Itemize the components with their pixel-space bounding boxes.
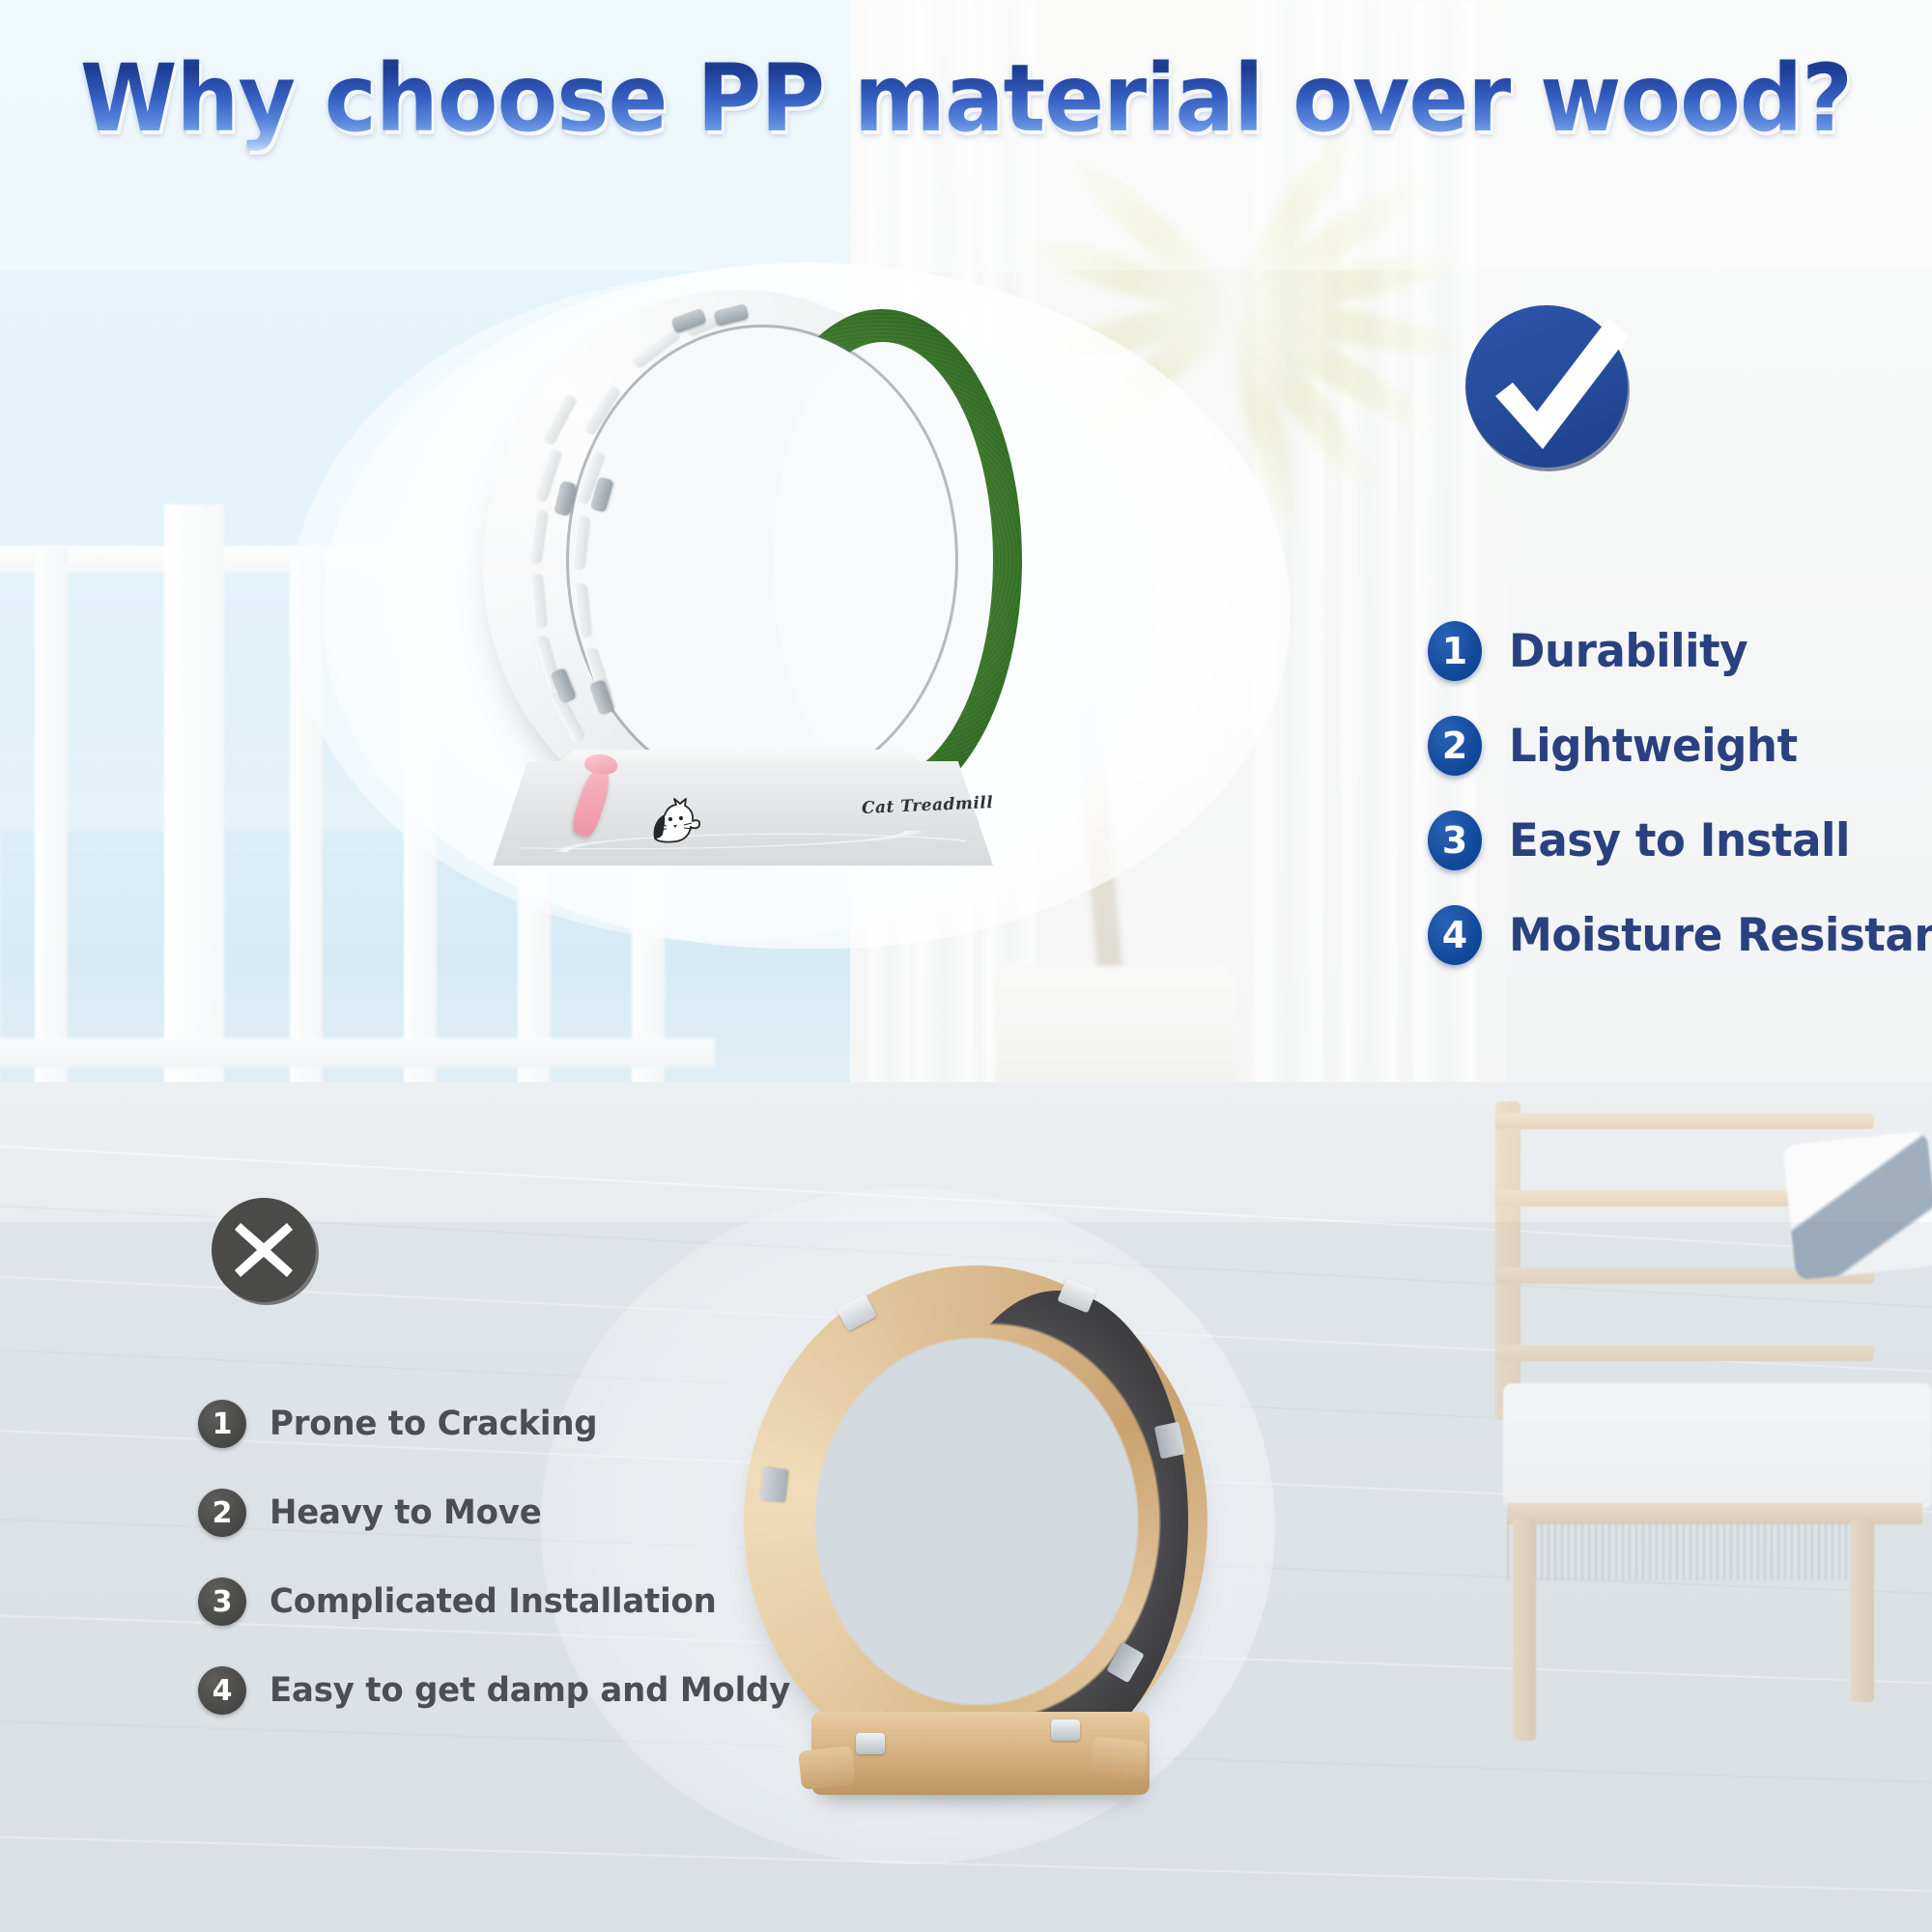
pp-cat-wheel-product: Cat Treadmill bbox=[483, 290, 1024, 908]
pro-label: Durability bbox=[1509, 625, 1747, 678]
pro-number-badge: 4 bbox=[1428, 905, 1482, 965]
pp-rim-edge bbox=[566, 325, 958, 796]
checkmark-icon bbox=[1463, 301, 1639, 477]
con-number-badge: 4 bbox=[198, 1666, 246, 1715]
wood-wheel-inner-edge bbox=[769, 1291, 1182, 1752]
wood-cat-wheel-product bbox=[744, 1265, 1323, 1864]
wheel-roller bbox=[856, 1733, 885, 1754]
con-item-3[interactable]: 3 Complicated Installation bbox=[198, 1557, 797, 1646]
con-item-2[interactable]: 2 Heavy to Move bbox=[198, 1468, 797, 1557]
con-label: Complicated Installation bbox=[270, 1582, 717, 1621]
cross-icon bbox=[209, 1195, 321, 1307]
cat-graphic-icon bbox=[647, 796, 705, 848]
con-item-4[interactable]: 4 Easy to get damp and Moldy bbox=[198, 1646, 797, 1735]
pro-item-1[interactable]: 1 Durability bbox=[1428, 604, 1930, 698]
con-item-1[interactable]: 1 Prone to Cracking bbox=[198, 1379, 797, 1468]
railing-post bbox=[35, 546, 68, 1087]
con-label: Prone to Cracking bbox=[270, 1405, 597, 1443]
cons-list: 1 Prone to Cracking 2 Heavy to Move 3 Co… bbox=[198, 1379, 797, 1735]
railing-bottom-bar bbox=[0, 1038, 715, 1067]
con-number-badge: 1 bbox=[198, 1400, 246, 1448]
con-label: Heavy to Move bbox=[270, 1493, 542, 1532]
pro-label: Easy to Install bbox=[1509, 814, 1850, 867]
con-number-badge: 2 bbox=[198, 1489, 246, 1537]
pro-number-badge: 2 bbox=[1428, 716, 1482, 776]
page-title: Why choose PP material over wood? bbox=[48, 44, 1884, 153]
pro-label: Moisture Resistance bbox=[1509, 909, 1932, 962]
wheel-roller bbox=[1051, 1719, 1080, 1741]
pro-number-badge: 3 bbox=[1428, 810, 1482, 870]
pro-item-3[interactable]: 3 Easy to Install bbox=[1428, 793, 1930, 888]
railing-post-main bbox=[164, 504, 224, 1094]
infographic-canvas: Why choose PP material over wood? bbox=[0, 0, 1932, 1932]
pro-item-4[interactable]: 4 Moisture Resistance bbox=[1428, 888, 1930, 982]
wood-base-foot bbox=[798, 1746, 856, 1790]
chair-back-rail bbox=[1495, 1113, 1874, 1129]
wood-base-foot bbox=[1090, 1736, 1148, 1780]
pro-number-badge: 1 bbox=[1428, 621, 1482, 681]
pros-list: 1 Durability 2 Lightweight 3 Easy to Ins… bbox=[1428, 604, 1930, 982]
con-number-badge: 3 bbox=[198, 1577, 246, 1626]
pro-label: Lightweight bbox=[1509, 720, 1798, 773]
con-label: Easy to get damp and Moldy bbox=[270, 1671, 790, 1710]
pro-item-2[interactable]: 2 Lightweight bbox=[1428, 698, 1930, 793]
